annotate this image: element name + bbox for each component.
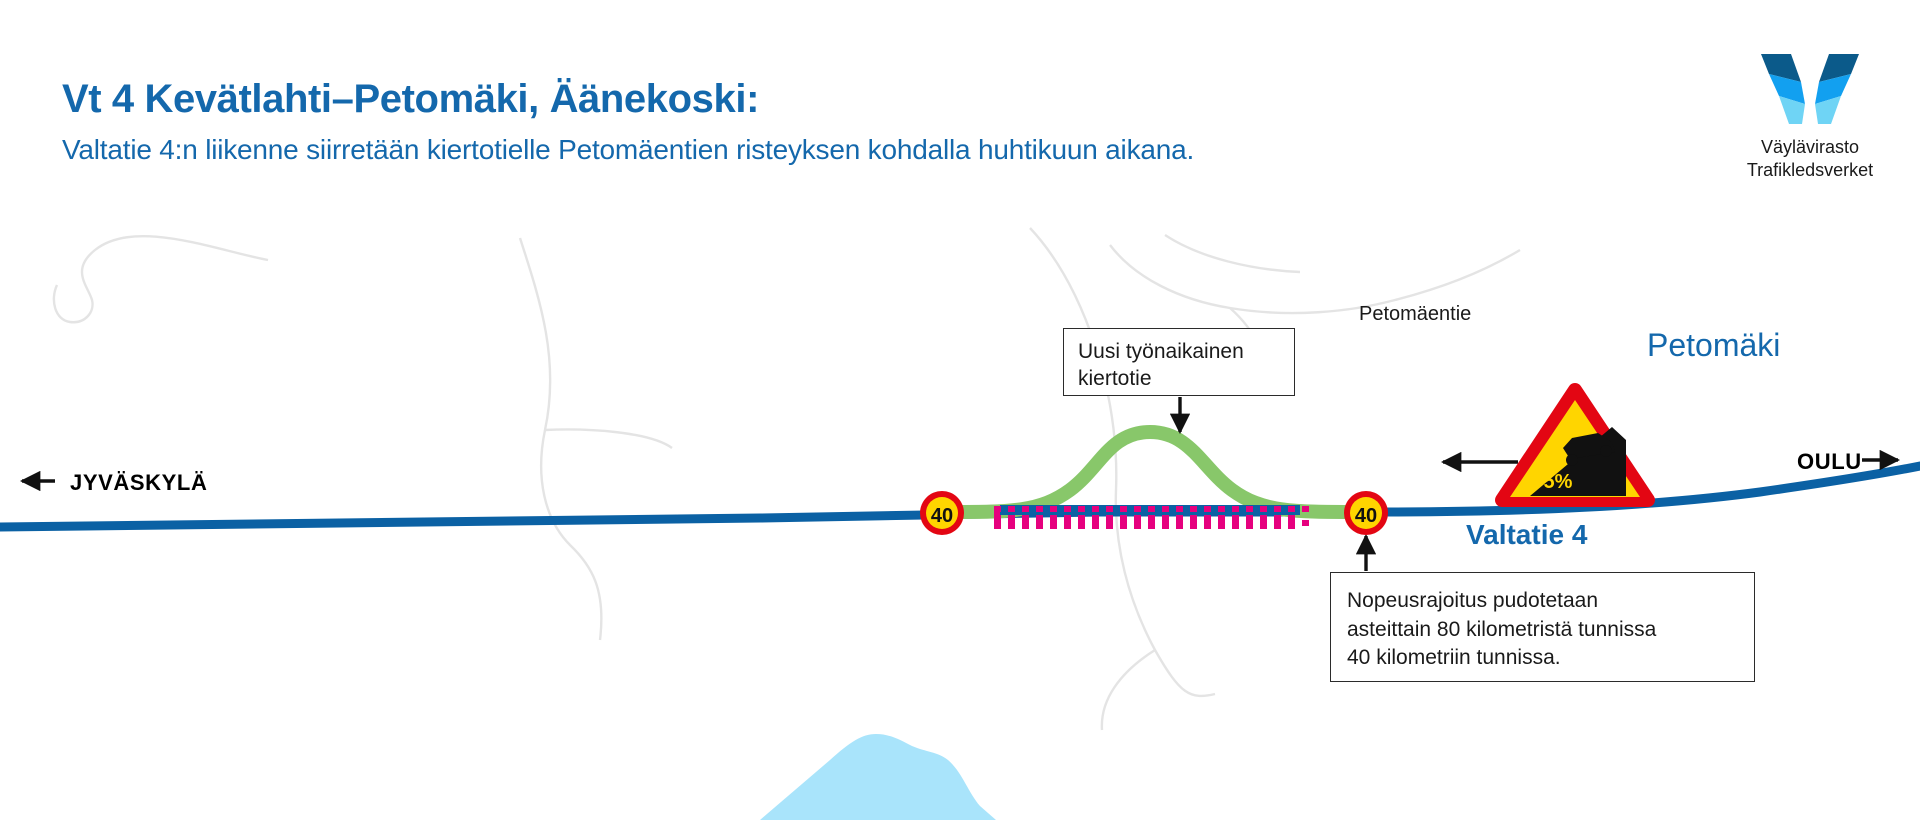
detour-route <box>950 432 1360 512</box>
callout-speed-reduction-line-3: 40 kilometriin tunnissa. <box>1347 644 1738 673</box>
callout-new-detour-line-2: kiertotie <box>1078 366 1280 393</box>
speed-limit-sign-east-value: 40 <box>1355 505 1377 527</box>
infographic-canvas: 40 40 5% Vt 4 Kevätlahti–Petomäki, Äänek… <box>0 0 1920 820</box>
page-title: Vt 4 Kevätlahti–Petomäki, Äänekoski: <box>62 78 1562 120</box>
header: Vt 4 Kevätlahti–Petomäki, Äänekoski: Val… <box>62 78 1562 166</box>
background-road-network <box>54 228 1520 730</box>
logo-text-sv: Trafikledsverket <box>1715 159 1905 182</box>
speed-limit-sign-west: 40 <box>920 491 964 535</box>
page-subtitle: Valtatie 4:n liikenne siirretään kiertot… <box>62 134 1562 166</box>
label-road-petomaentie: Petomäentie <box>1359 303 1471 326</box>
vaylavirasto-logo: Väylävirasto Trafikledsverket <box>1715 48 1905 181</box>
label-road-valtatie4: Valtatie 4 <box>1466 519 1587 551</box>
callout-speed-reduction-line-2: asteittain 80 kilometristä tunnissa <box>1347 616 1738 645</box>
callout-speed-reduction-line-1: Nopeusrajoitus pudotetaan <box>1347 587 1738 616</box>
logo-text-fi: Väylävirasto <box>1715 136 1905 159</box>
callout-new-detour: Uusi työnaikainen kiertotie <box>1063 328 1295 396</box>
speed-limit-sign-east: 40 <box>1344 491 1388 535</box>
steep-descent-warning-sign: 5% <box>1502 390 1648 500</box>
label-direction-oulu: OULU <box>1797 449 1862 475</box>
label-place-petomaki: Petomäki <box>1647 327 1780 364</box>
callout-new-detour-line-1: Uusi työnaikainen <box>1078 339 1280 366</box>
closed-section-marking <box>992 505 1310 529</box>
callout-speed-reduction: Nopeusrajoitus pudotetaan asteittain 80 … <box>1330 572 1755 682</box>
vaylavirasto-v-logo-icon <box>1755 48 1865 128</box>
speed-limit-sign-west-value: 40 <box>931 505 953 527</box>
gradient-warning-value: 5% <box>1544 471 1573 493</box>
label-direction-jyvaskyla: JYVÄSKYLÄ <box>70 470 207 496</box>
logo-text: Väylävirasto Trafikledsverket <box>1715 136 1905 181</box>
water-body <box>760 734 996 820</box>
